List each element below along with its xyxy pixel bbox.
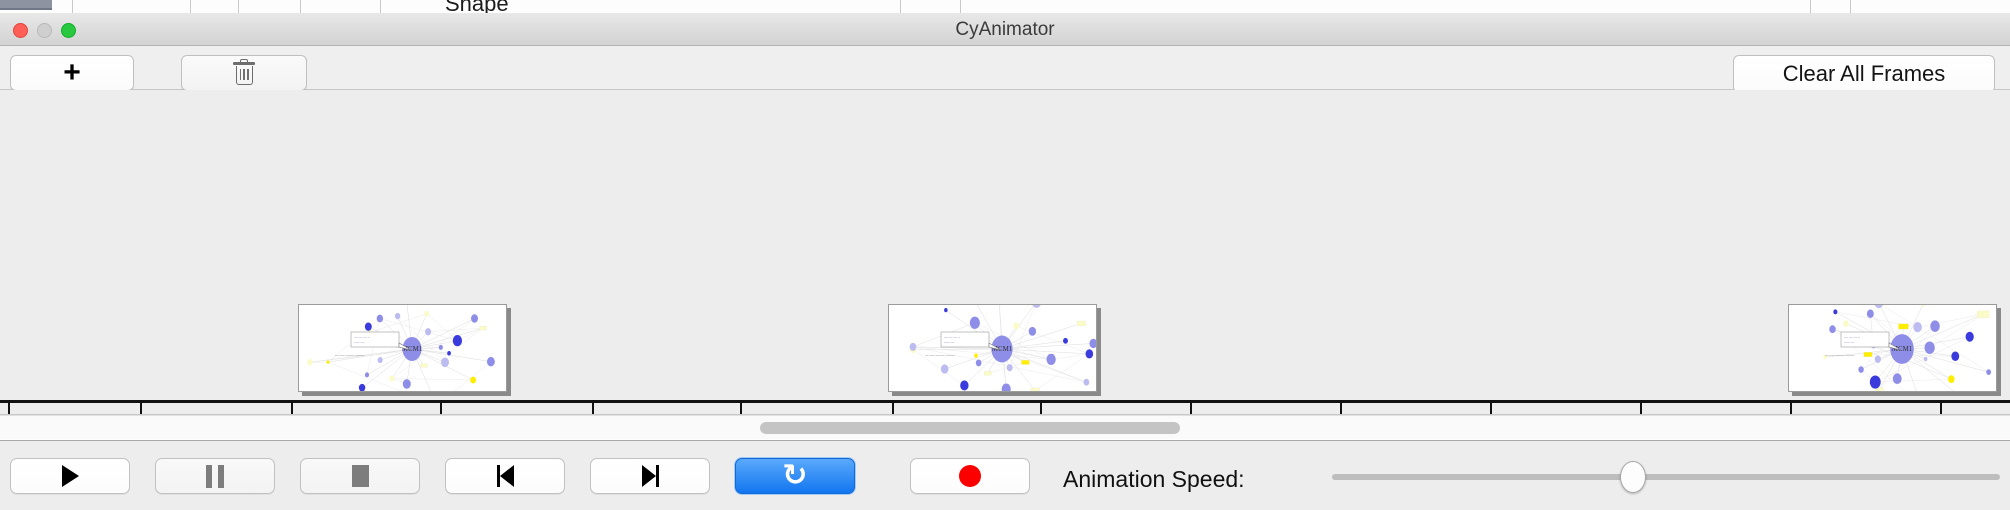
timeline-tick bbox=[592, 403, 594, 415]
window-titlebar: CyAnimator bbox=[0, 13, 2010, 46]
svg-text:‒‒ ‒‒ ‒‒ ‒: ‒‒ ‒‒ ‒‒ ‒ bbox=[944, 335, 960, 339]
trash-icon bbox=[233, 60, 255, 86]
frame-thumbnail[interactable]: MCM1‒‒ ‒‒ ‒‒ ‒‒‒‒ ‒‒‒‒ ‒‒‒ ‒‒‒‒‒ ‒‒‒‒‒ bbox=[1788, 304, 1997, 392]
svg-text:‒‒‒ ‒‒: ‒‒‒ ‒‒ bbox=[1844, 341, 1854, 345]
svg-text:‒‒ ‒‒ ‒‒ ‒: ‒‒ ‒‒ ‒‒ ‒ bbox=[354, 335, 370, 339]
window-title: CyAnimator bbox=[0, 13, 2010, 46]
svg-text:‒‒‒ ‒‒: ‒‒‒ ‒‒ bbox=[354, 341, 364, 345]
play-button[interactable] bbox=[10, 458, 130, 494]
bg-divider bbox=[380, 0, 381, 13]
animation-speed-label: Animation Speed: bbox=[1063, 466, 1245, 493]
background-window-strip: Shape bbox=[0, 0, 2010, 13]
clear-all-frames-label: Clear All Frames bbox=[1783, 61, 1946, 87]
timeline-tick bbox=[892, 403, 894, 415]
animation-speed-slider[interactable] bbox=[1332, 474, 2000, 480]
loop-icon: ↻ bbox=[782, 462, 807, 490]
bg-divider bbox=[190, 0, 191, 13]
svg-text:‒‒ ‒‒‒ ‒‒‒‒‒ ‒‒‒‒‒: ‒‒ ‒‒‒ ‒‒‒‒‒ ‒‒‒‒‒ bbox=[1825, 353, 1854, 357]
timeline-frame[interactable]: MCM1‒‒ ‒‒ ‒‒ ‒‒‒‒ ‒‒‒‒ ‒‒‒ ‒‒‒‒‒ ‒‒‒‒‒ bbox=[888, 304, 1101, 396]
stop-icon bbox=[352, 465, 369, 487]
timeline-frame[interactable]: MCM1‒‒ ‒‒ ‒‒ ‒‒‒‒ ‒‒‒‒ ‒‒‒ ‒‒‒‒‒ ‒‒‒‒‒ bbox=[298, 304, 511, 396]
pause-button[interactable] bbox=[155, 458, 275, 494]
timeline-tick bbox=[1490, 403, 1492, 415]
bg-divider bbox=[900, 0, 901, 13]
timeline-tick bbox=[1040, 403, 1042, 414]
timeline-tick bbox=[1190, 403, 1192, 415]
animation-speed-slider-knob[interactable] bbox=[1620, 461, 1646, 493]
record-icon bbox=[959, 465, 981, 487]
bg-divider bbox=[1810, 0, 1811, 13]
frame-thumbnail[interactable]: MCM1‒‒ ‒‒ ‒‒ ‒‒‒‒ ‒‒‒‒ ‒‒‒ ‒‒‒‒‒ ‒‒‒‒‒ bbox=[888, 304, 1097, 392]
network-thumbnail: MCM1‒‒ ‒‒ ‒‒ ‒‒‒‒ ‒‒‒‒ ‒‒‒ ‒‒‒‒‒ ‒‒‒‒‒ bbox=[889, 305, 1097, 392]
skip-back-icon bbox=[497, 465, 514, 487]
timeline-tick bbox=[291, 403, 293, 415]
skip-to-start-button[interactable] bbox=[445, 458, 565, 494]
loop-button[interactable]: ↻ bbox=[735, 458, 855, 494]
cyanimator-window: Shape CyAnimator + Clear All Frames MCM1… bbox=[0, 0, 2010, 510]
bg-divider bbox=[300, 0, 301, 13]
svg-text:‒‒ ‒‒ ‒‒ ‒: ‒‒ ‒‒ ‒‒ ‒ bbox=[1844, 335, 1860, 339]
play-icon bbox=[62, 465, 79, 487]
svg-text:‒‒‒ ‒‒: ‒‒‒ ‒‒ bbox=[944, 341, 954, 345]
bg-divider bbox=[960, 0, 961, 13]
timeline-tick bbox=[1940, 403, 1942, 414]
timeline-tick bbox=[1340, 403, 1342, 414]
timeline-tick bbox=[1790, 403, 1792, 415]
plus-icon: + bbox=[63, 61, 81, 85]
record-button[interactable] bbox=[910, 458, 1030, 494]
timeline-axis-line bbox=[0, 400, 2010, 403]
skip-forward-icon bbox=[642, 465, 659, 487]
network-thumbnail: MCM1‒‒ ‒‒ ‒‒ ‒‒‒‒ ‒‒‒‒ ‒‒‒ ‒‒‒‒‒ ‒‒‒‒‒ bbox=[299, 305, 507, 392]
frame-thumbnail[interactable]: MCM1‒‒ ‒‒ ‒‒ ‒‒‒‒ ‒‒‒‒ ‒‒‒ ‒‒‒‒‒ ‒‒‒‒‒ bbox=[298, 304, 507, 392]
delete-frame-button[interactable] bbox=[181, 55, 307, 91]
bg-divider bbox=[238, 0, 239, 13]
timeline-tick bbox=[1640, 403, 1642, 414]
timeline-scrollbar[interactable] bbox=[0, 415, 2010, 439]
add-frame-button[interactable]: + bbox=[10, 55, 134, 91]
timeline-scrollbar-thumb[interactable] bbox=[760, 422, 1180, 434]
timeline-tick bbox=[8, 403, 10, 415]
timeline-frame[interactable]: MCM1‒‒ ‒‒ ‒‒ ‒‒‒‒ ‒‒‒‒ ‒‒‒ ‒‒‒‒‒ ‒‒‒‒‒ bbox=[1788, 304, 2001, 396]
timeline-tick bbox=[140, 403, 142, 414]
timeline-panel[interactable]: MCM1‒‒ ‒‒ ‒‒ ‒‒‒‒ ‒‒‒‒ ‒‒‒ ‒‒‒‒‒ ‒‒‒‒‒MC… bbox=[0, 90, 2010, 415]
svg-text:‒‒ ‒‒‒ ‒‒‒‒‒ ‒‒‒‒‒: ‒‒ ‒‒‒ ‒‒‒‒‒ ‒‒‒‒‒ bbox=[925, 353, 954, 357]
background-window-titlebar-fragment bbox=[0, 0, 52, 10]
clear-all-frames-button[interactable]: Clear All Frames bbox=[1733, 55, 1995, 93]
background-window-label: Shape bbox=[445, 0, 509, 13]
bg-divider bbox=[1850, 0, 1851, 13]
pause-icon bbox=[206, 465, 224, 488]
bg-divider bbox=[72, 0, 73, 13]
svg-text:‒‒ ‒‒‒ ‒‒‒‒‒ ‒‒‒‒‒: ‒‒ ‒‒‒ ‒‒‒‒‒ ‒‒‒‒‒ bbox=[335, 353, 364, 357]
timeline-tick bbox=[440, 403, 442, 414]
timeline-tick bbox=[740, 403, 742, 414]
network-thumbnail: MCM1‒‒ ‒‒ ‒‒ ‒‒‒‒ ‒‒‒‒ ‒‒‒ ‒‒‒‒‒ ‒‒‒‒‒ bbox=[1789, 305, 1997, 392]
stop-button[interactable] bbox=[300, 458, 420, 494]
skip-to-end-button[interactable] bbox=[590, 458, 710, 494]
